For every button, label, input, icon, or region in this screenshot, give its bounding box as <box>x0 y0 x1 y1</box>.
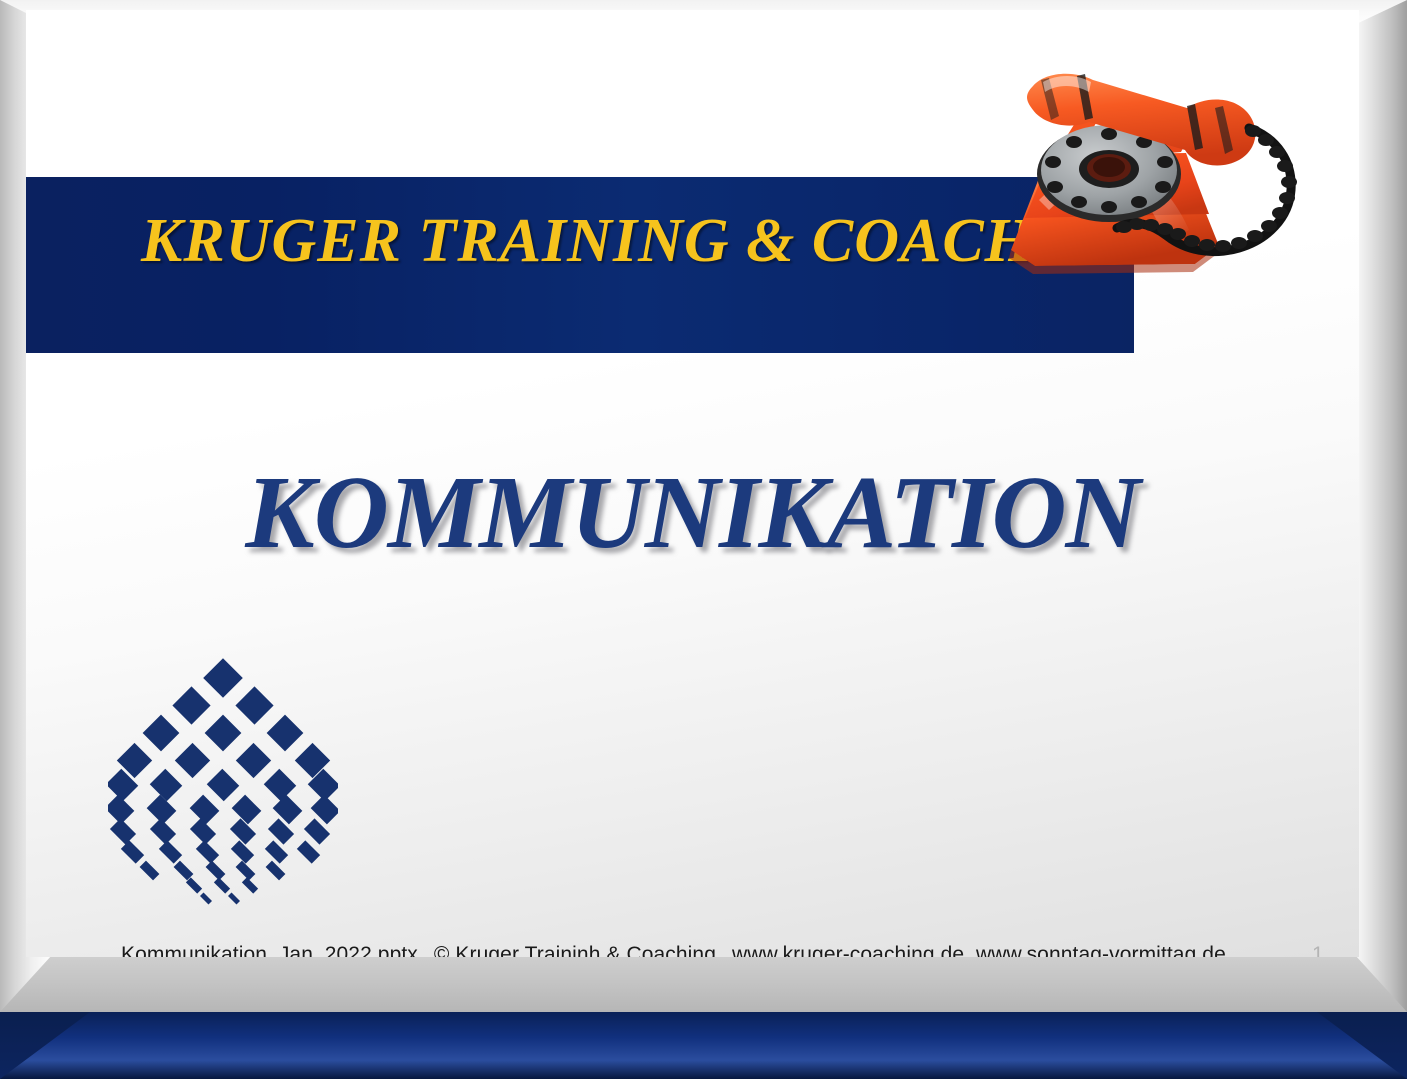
frame-plinth-left-miter <box>0 1012 90 1079</box>
slide-main-title: KOMMUNIKATION <box>26 453 1359 572</box>
footer-websites: www.kruger-coaching.de, www.sonntag-vorm… <box>732 943 1226 957</box>
frame-bevel-bottom <box>0 955 1407 1012</box>
frame-plinth-bar <box>0 1012 1407 1079</box>
footer-file-name: Kommunikation_Jan_2022.pptx <box>121 943 418 957</box>
footer-copyright: © Kruger Traininh & Coaching <box>434 943 716 957</box>
orange-rotary-telephone-icon <box>981 50 1341 320</box>
header-banner-title: KRUGER TRAINING & COACHING <box>141 206 1101 277</box>
frame-bevel-right <box>1352 0 1407 1079</box>
frame-plinth-right-miter <box>1317 1012 1407 1079</box>
diamond-pyramid-logo-icon <box>108 658 338 918</box>
page-number: 1 <box>1312 943 1324 957</box>
slide-frame: KRUGER TRAINING & COACHING <box>0 0 1407 1079</box>
slide-canvas: KRUGER TRAINING & COACHING <box>26 10 1359 957</box>
footer: Kommunikation_Jan_2022.pptx© Kruger Trai… <box>121 943 1242 957</box>
